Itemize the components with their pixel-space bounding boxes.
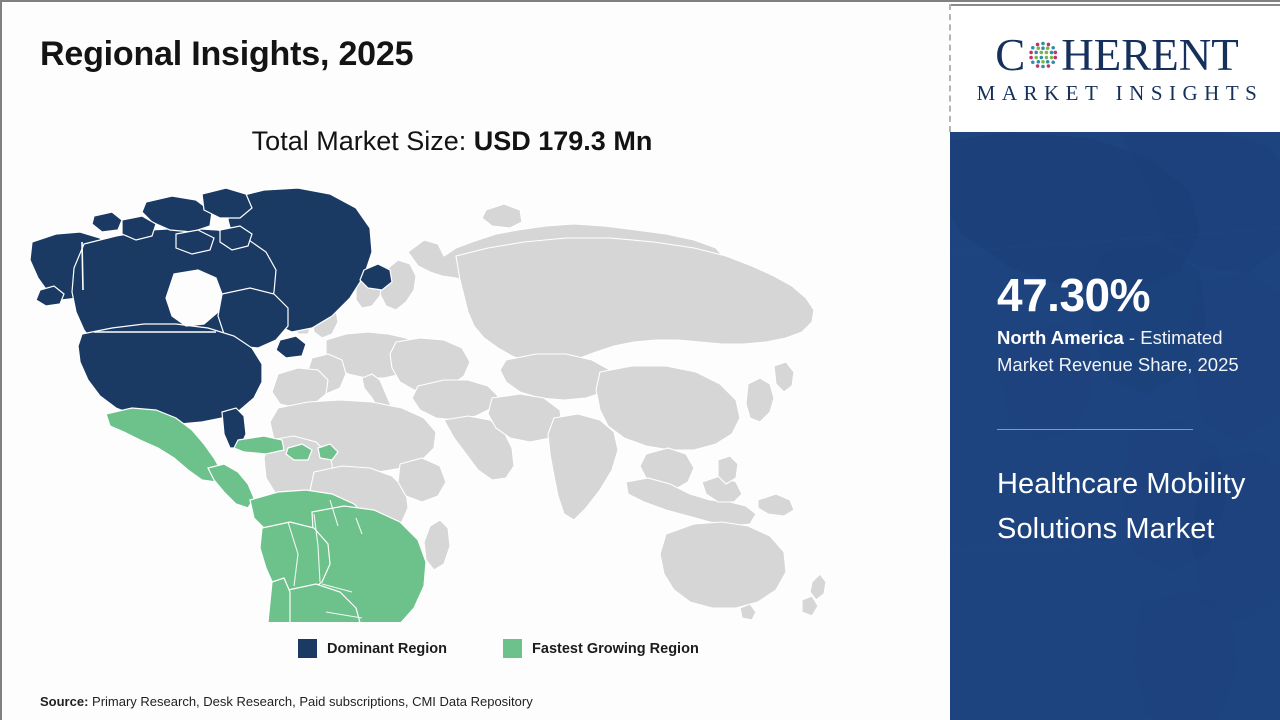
- dotted-globe-icon: [1026, 38, 1060, 72]
- stats-panel: 47.30% North America - Estimated Market …: [950, 132, 1280, 720]
- logo-wordmark: C: [995, 33, 1239, 78]
- left-content-area: Regional Insights, 2025 Total Market Siz…: [2, 2, 950, 720]
- logo-subtitle: MARKET INSIGHTS: [971, 81, 1264, 106]
- source-footer: Source: Primary Research, Desk Research,…: [40, 694, 533, 709]
- green-swatch-icon: [503, 639, 522, 658]
- stat-percentage: 47.30%: [997, 272, 1150, 318]
- infographic-page: Regional Insights, 2025 Total Market Siz…: [0, 0, 1280, 720]
- map-legend: Dominant Region Fastest Growing Region: [298, 639, 699, 658]
- brand-logo: C: [952, 6, 1280, 132]
- navy-swatch-icon: [298, 639, 317, 658]
- panel-divider-rule: [997, 429, 1193, 430]
- total-market-size: Total Market Size: USD 179.3 Mn: [2, 126, 902, 157]
- vertical-dashed-divider: [949, 4, 951, 132]
- legend-label-fastest-growing: Fastest Growing Region: [532, 641, 699, 657]
- market-size-label: Total Market Size:: [252, 126, 474, 156]
- stat-region-name: North America: [997, 327, 1124, 348]
- legend-item-fastest-growing: Fastest Growing Region: [503, 639, 699, 658]
- legend-item-dominant: Dominant Region: [298, 639, 447, 658]
- logo-letter-c: C: [995, 33, 1025, 78]
- stat-description: North America - Estimated Market Revenue…: [997, 325, 1265, 378]
- logo-word-herent: HERENT: [1061, 33, 1238, 78]
- source-text: Primary Research, Desk Research, Paid su…: [88, 694, 532, 709]
- market-title: Healthcare Mobility Solutions Market: [997, 462, 1247, 552]
- page-title: Regional Insights, 2025: [40, 35, 413, 74]
- source-label: Source:: [40, 694, 88, 709]
- world-map: [26, 182, 866, 622]
- market-size-value: USD 179.3 Mn: [474, 126, 653, 156]
- legend-label-dominant: Dominant Region: [327, 641, 447, 657]
- stats-panel-content: 47.30% North America - Estimated Market …: [950, 132, 1280, 720]
